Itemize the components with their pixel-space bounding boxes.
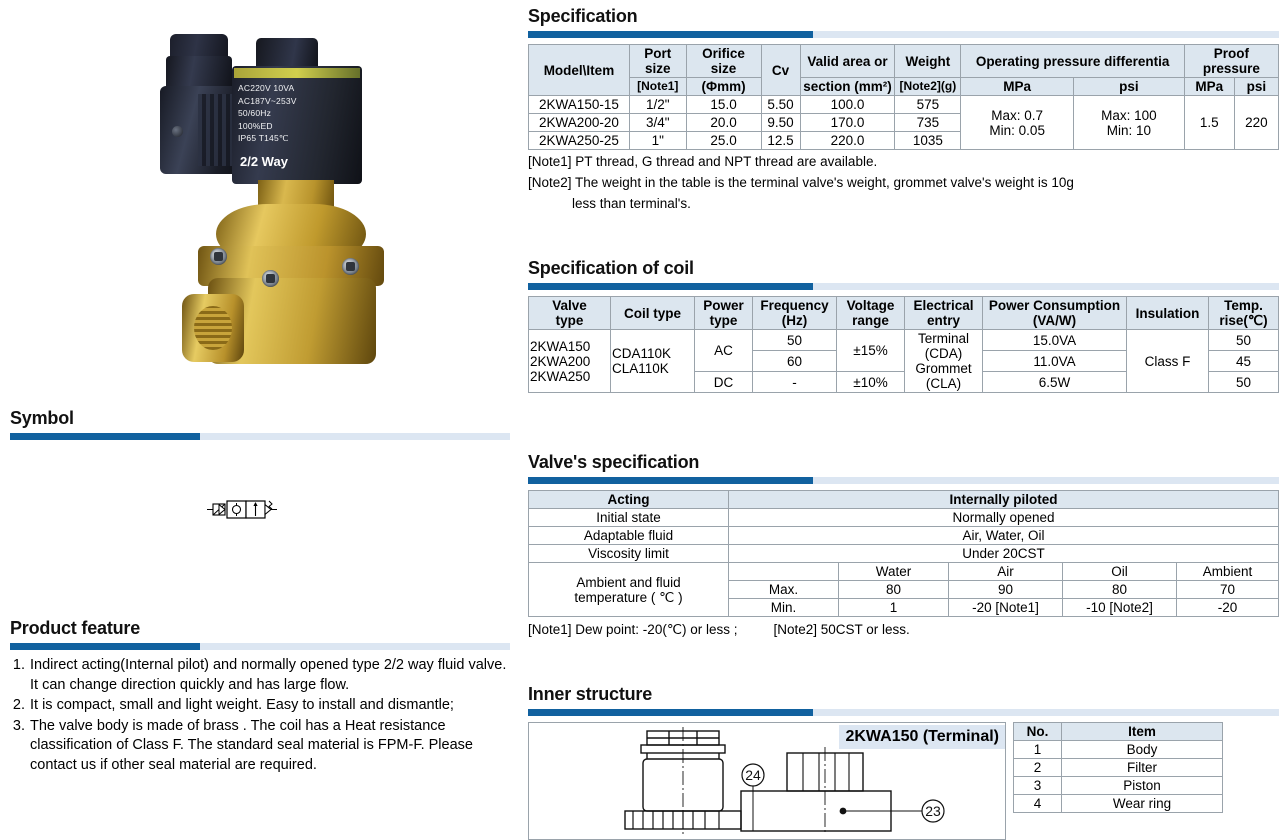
cell-temp-max-oil: 80 bbox=[1063, 581, 1177, 599]
coil-way-text: 2/2 Way bbox=[240, 154, 288, 169]
coil-label-line-3: 50/60Hz bbox=[238, 107, 362, 120]
bolt-center bbox=[262, 270, 279, 287]
coil-label-text: AC220V 10VA AC187V~253V 50/60Hz 100%ED I… bbox=[238, 82, 362, 145]
table-row: Viscosity limit Under 20CST bbox=[529, 545, 1279, 563]
cell-part-item: Filter bbox=[1062, 759, 1223, 777]
cell-consumption: 6.5W bbox=[983, 372, 1127, 393]
th-line-1: Valve bbox=[531, 298, 608, 313]
spec-note-2: [Note2] The weight in the table is the t… bbox=[528, 174, 1279, 192]
opd-psi-max: Max: 100 bbox=[1076, 108, 1182, 123]
table-subheader-row: [Note1] (Φmm) section (mm²) [Note2](g) M… bbox=[529, 78, 1279, 96]
table-row: 1 Body bbox=[1014, 741, 1223, 759]
cell-model: 2KWA150-15 bbox=[529, 96, 630, 114]
callout-24: 24 bbox=[745, 767, 761, 783]
cell-consumption: 15.0VA bbox=[983, 330, 1127, 351]
cell-proof-mpa: 1.5 bbox=[1184, 96, 1234, 150]
cell-model: 2KWA250-25 bbox=[529, 132, 630, 150]
valve-specification-heading: Valve's specification bbox=[528, 452, 1279, 472]
th-temp-rise: Temp. rise(℃) bbox=[1209, 297, 1279, 330]
cell-orifice: 15.0 bbox=[686, 96, 761, 114]
valve-specification-section: Valve's specification Acting Internally … bbox=[528, 452, 1279, 639]
cell-viscosity-value: Under 20CST bbox=[729, 545, 1279, 563]
table-header-row: No. Item bbox=[1014, 723, 1223, 741]
th-model: Model\Item bbox=[529, 45, 630, 96]
list-item: 3. The valve body is made of brass . The… bbox=[10, 717, 510, 776]
coil-accent-rule bbox=[528, 283, 1279, 290]
cell-power-type: DC bbox=[695, 372, 753, 393]
cell-temperature-label: Ambient and fluid temperature ( ℃ ) bbox=[529, 563, 729, 617]
cell-coil-types: CDA110K CLA110K bbox=[611, 330, 695, 393]
cell-part-no: 4 bbox=[1014, 795, 1062, 813]
valve-port bbox=[182, 294, 244, 362]
th-line-2: (VA/W) bbox=[985, 313, 1124, 328]
cell-part-item: Wear ring bbox=[1062, 795, 1223, 813]
feature-number: 1. bbox=[10, 656, 25, 695]
product-feature-list: 1. Indirect acting(Internal pilot) and n… bbox=[10, 656, 510, 775]
cell-port-size: 1" bbox=[629, 132, 686, 150]
cell-voltage: ±15% bbox=[837, 330, 905, 372]
entry-line-1: Terminal bbox=[907, 331, 980, 346]
drawing-model-tag: 2KWA150 (Terminal) bbox=[839, 725, 1005, 749]
cell-cv: 5.50 bbox=[761, 96, 800, 114]
cell-temp-rise: 50 bbox=[1209, 330, 1279, 351]
parts-list-table: No. Item 1 Body 2 Filter 3 Piston bbox=[1013, 722, 1223, 813]
cell-port-size: 3/4" bbox=[629, 114, 686, 132]
cell-weight: 735 bbox=[895, 114, 961, 132]
table-header-row: Valve type Coil type Power type Frequenc… bbox=[529, 297, 1279, 330]
opd-mpa-max: Max: 0.7 bbox=[963, 108, 1071, 123]
th-part-no: No. bbox=[1014, 723, 1062, 741]
cell-temp-rise: 45 bbox=[1209, 351, 1279, 372]
th-valid-area-unit: section (mm²) bbox=[800, 78, 895, 96]
right-column: Specification Model\Item Port size Orifi… bbox=[520, 0, 1287, 840]
valve-schematic-symbol bbox=[205, 497, 279, 523]
cell-initial-state-label: Initial state bbox=[529, 509, 729, 527]
inner-structure-drawing: 2KWA150 (Terminal) bbox=[528, 722, 1006, 840]
cell-acting-value: Internally piloted bbox=[729, 491, 1279, 509]
connector-nut bbox=[166, 56, 232, 90]
valve-type-1: 2KWA150 bbox=[530, 339, 608, 354]
table-row: 2KWA150 2KWA200 2KWA250 CDA110K CLA110K … bbox=[529, 330, 1279, 351]
th-proof-psi: psi bbox=[1234, 78, 1278, 96]
th-line-2: entry bbox=[907, 313, 980, 328]
th-orifice-unit: (Φmm) bbox=[686, 78, 761, 96]
th-opd-mpa: MPa bbox=[961, 78, 1074, 96]
coil-label-strip bbox=[234, 68, 360, 78]
inner-structure-accent-rule bbox=[528, 709, 1279, 716]
th-line-1: Power bbox=[697, 298, 750, 313]
cell-temp-min-air: -20 [Note1] bbox=[949, 599, 1063, 617]
callout-23: 23 bbox=[925, 803, 941, 819]
th-weight: Weight bbox=[895, 45, 961, 78]
connector-screw bbox=[172, 126, 183, 137]
symbol-heading: Symbol bbox=[10, 408, 510, 428]
cell-temp-max-ambient: 70 bbox=[1177, 581, 1279, 599]
cell-cv: 9.50 bbox=[761, 114, 800, 132]
product-photo: AC220V 10VA AC187V~253V 50/60Hz 100%ED I… bbox=[120, 8, 380, 378]
table-row: 2 Filter bbox=[1014, 759, 1223, 777]
cell-weight: 575 bbox=[895, 96, 961, 114]
cell-temp-header-oil: Oil bbox=[1063, 563, 1177, 581]
th-line-1: Temp. bbox=[1211, 298, 1276, 313]
cell-temp-blank bbox=[729, 563, 839, 581]
cell-proof-psi: 220 bbox=[1234, 96, 1278, 150]
th-power-type: Power type bbox=[695, 297, 753, 330]
cell-temp-min-label: Min. bbox=[729, 599, 839, 617]
feature-text: It is compact, small and light weight. E… bbox=[30, 696, 510, 716]
cell-voltage: ±10% bbox=[837, 372, 905, 393]
table-row: Acting Internally piloted bbox=[529, 491, 1279, 509]
coil-type-2: CLA110K bbox=[612, 361, 692, 376]
coil-label-line-2: AC187V~253V bbox=[238, 95, 362, 108]
cell-orifice: 25.0 bbox=[686, 132, 761, 150]
cell-consumption: 11.0VA bbox=[983, 351, 1127, 372]
th-valve-type: Valve type bbox=[529, 297, 611, 330]
valve-note-1: [Note1] Dew point: -20(℃) or less ; bbox=[528, 621, 738, 639]
table-row: Adaptable fluid Air, Water, Oil bbox=[529, 527, 1279, 545]
left-column: AC220V 10VA AC187V~253V 50/60Hz 100%ED I… bbox=[0, 0, 520, 840]
cell-temp-header-air: Air bbox=[949, 563, 1063, 581]
inner-structure-heading: Inner structure bbox=[528, 684, 1279, 704]
coil-label-line-1: AC220V 10VA bbox=[238, 82, 362, 95]
cell-frequency: - bbox=[753, 372, 837, 393]
cell-part-no: 2 bbox=[1014, 759, 1062, 777]
cell-adaptable-fluid-label: Adaptable fluid bbox=[529, 527, 729, 545]
opd-mpa-min: Min: 0.05 bbox=[963, 123, 1071, 138]
th-opd-psi: psi bbox=[1073, 78, 1184, 96]
cell-part-item: Piston bbox=[1062, 777, 1223, 795]
th-line-1: Voltage bbox=[839, 298, 902, 313]
cell-weight: 1035 bbox=[895, 132, 961, 150]
cell-part-no: 1 bbox=[1014, 741, 1062, 759]
cell-electrical-entry: Terminal (CDA) Grommet (CLA) bbox=[905, 330, 983, 393]
spec-note-2-cont: less than terminal's. bbox=[528, 195, 1279, 213]
product-feature-section: Product feature 1. Indirect acting(Inter… bbox=[10, 618, 510, 776]
cell-adaptable-fluid-value: Air, Water, Oil bbox=[729, 527, 1279, 545]
temp-label-line-2: temperature ( ℃ ) bbox=[531, 590, 726, 605]
table-row: Ambient and fluid temperature ( ℃ ) Wate… bbox=[529, 563, 1279, 581]
valve-accent-rule bbox=[528, 477, 1279, 484]
th-insulation: Insulation bbox=[1127, 297, 1209, 330]
coil-label-line-4: 100%ED bbox=[238, 120, 362, 133]
table-row: Initial state Normally opened bbox=[529, 509, 1279, 527]
th-valid-area: Valid area or bbox=[800, 45, 895, 78]
cell-cv: 12.5 bbox=[761, 132, 800, 150]
cell-temp-rise: 50 bbox=[1209, 372, 1279, 393]
coil-specification-heading: Specification of coil bbox=[528, 258, 1279, 278]
cell-frequency: 50 bbox=[753, 330, 837, 351]
entry-line-2: (CDA) bbox=[907, 346, 980, 361]
cell-valid-area: 100.0 bbox=[800, 96, 895, 114]
cell-viscosity-label: Viscosity limit bbox=[529, 545, 729, 563]
specification-table: Model\Item Port size Orifice size Cv Val… bbox=[528, 44, 1279, 150]
th-voltage-range: Voltage range bbox=[837, 297, 905, 330]
feature-text: Indirect acting(Internal pilot) and norm… bbox=[30, 656, 510, 695]
cell-temp-max-water: 80 bbox=[839, 581, 949, 599]
th-acting: Acting bbox=[529, 491, 729, 509]
cell-opd-psi: Max: 100 Min: 10 bbox=[1073, 96, 1184, 150]
symbol-section: Symbol bbox=[10, 408, 510, 440]
th-orifice-size: Orifice size bbox=[686, 45, 761, 78]
bolt-right bbox=[342, 258, 359, 275]
valve-specification-table: Acting Internally piloted Initial state … bbox=[528, 490, 1279, 617]
list-item: 2. It is compact, small and light weight… bbox=[10, 696, 510, 716]
th-proof-pressure: Proof pressure bbox=[1184, 45, 1278, 78]
cell-part-item: Body bbox=[1062, 741, 1223, 759]
coil-specification-table: Valve type Coil type Power type Frequenc… bbox=[528, 296, 1279, 393]
opd-psi-min: Min: 10 bbox=[1076, 123, 1182, 138]
cell-valid-area: 170.0 bbox=[800, 114, 895, 132]
feature-number: 3. bbox=[10, 717, 25, 776]
cell-temp-min-oil: -10 [Note2] bbox=[1063, 599, 1177, 617]
th-power-consumption: Power Consumption (VA/W) bbox=[983, 297, 1127, 330]
valve-notes: [Note1] Dew point: -20(℃) or less ; [Not… bbox=[528, 621, 1279, 639]
th-coil-type: Coil type bbox=[611, 297, 695, 330]
cell-valid-area: 220.0 bbox=[800, 132, 895, 150]
th-line-1: Power Consumption bbox=[985, 298, 1124, 313]
list-item: 1. Indirect acting(Internal pilot) and n… bbox=[10, 656, 510, 695]
spec-note-1: [Note1] PT thread, G thread and NPT thre… bbox=[528, 153, 1279, 171]
cell-model: 2KWA200-20 bbox=[529, 114, 630, 132]
inner-structure-content: 2KWA150 (Terminal) bbox=[528, 722, 1279, 840]
feature-text: The valve body is made of brass . The co… bbox=[30, 717, 510, 776]
th-line-1: Frequency bbox=[755, 298, 834, 313]
cell-temp-max-label: Max. bbox=[729, 581, 839, 599]
specification-heading: Specification bbox=[528, 6, 1279, 26]
th-cv: Cv bbox=[761, 45, 800, 96]
feature-number: 2. bbox=[10, 696, 25, 716]
th-electrical-entry: Electrical entry bbox=[905, 297, 983, 330]
cell-temp-header-water: Water bbox=[839, 563, 949, 581]
coil-type-1: CDA110K bbox=[612, 346, 692, 361]
cell-orifice: 20.0 bbox=[686, 114, 761, 132]
symbol-accent-rule bbox=[10, 433, 510, 440]
cell-temp-header-ambient: Ambient bbox=[1177, 563, 1279, 581]
table-row: 2KWA150-15 1/2" 15.0 5.50 100.0 575 Max:… bbox=[529, 96, 1279, 114]
th-line-1: Electrical bbox=[907, 298, 980, 313]
valve-note-2: [Note2] 50CST or less. bbox=[774, 621, 910, 639]
product-feature-accent-rule bbox=[10, 643, 510, 650]
th-line-2: type bbox=[697, 313, 750, 328]
product-feature-heading: Product feature bbox=[10, 618, 510, 638]
th-part-item: Item bbox=[1062, 723, 1223, 741]
cell-opd-mpa: Max: 0.7 Min: 0.05 bbox=[961, 96, 1074, 150]
th-frequency: Frequency (Hz) bbox=[753, 297, 837, 330]
temp-label-line-1: Ambient and fluid bbox=[531, 575, 726, 590]
cell-initial-state-value: Normally opened bbox=[729, 509, 1279, 527]
table-row: 4 Wear ring bbox=[1014, 795, 1223, 813]
th-proof-mpa: MPa bbox=[1184, 78, 1234, 96]
cell-temp-max-air: 90 bbox=[949, 581, 1063, 599]
th-line-2: range bbox=[839, 313, 902, 328]
entry-line-3: Grommet bbox=[907, 361, 980, 376]
specification-accent-rule bbox=[528, 31, 1279, 38]
th-line-2: rise(℃) bbox=[1211, 313, 1276, 328]
coil-specification-section: Specification of coil Valve type Coil ty… bbox=[528, 258, 1279, 393]
ce-mark-icon: CE bbox=[357, 46, 374, 63]
th-port-size: Port size bbox=[629, 45, 686, 78]
table-row: 3 Piston bbox=[1014, 777, 1223, 795]
cell-frequency: 60 bbox=[753, 351, 837, 372]
cell-power-type: AC bbox=[695, 330, 753, 372]
th-line-2: type bbox=[531, 313, 608, 328]
datasheet-page: AC220V 10VA AC187V~253V 50/60Hz 100%ED I… bbox=[0, 0, 1287, 840]
valve-type-2: 2KWA200 bbox=[530, 354, 608, 369]
specification-section: Specification Model\Item Port size Orifi… bbox=[528, 6, 1279, 213]
cell-temp-min-ambient: -20 bbox=[1177, 599, 1279, 617]
cell-part-no: 3 bbox=[1014, 777, 1062, 795]
th-weight-note: [Note2](g) bbox=[895, 78, 961, 96]
cell-port-size: 1/2" bbox=[629, 96, 686, 114]
entry-line-4: (CLA) bbox=[907, 376, 980, 391]
coil-label-line-5: IP65 T145℃ bbox=[238, 132, 362, 145]
bolt-left bbox=[210, 248, 227, 265]
cell-temp-min-water: 1 bbox=[839, 599, 949, 617]
inner-structure-section: Inner structure 2KWA150 (Terminal) bbox=[528, 684, 1279, 840]
valve-type-3: 2KWA250 bbox=[530, 369, 608, 384]
cell-insulation: Class F bbox=[1127, 330, 1209, 393]
th-line-2: (Hz) bbox=[755, 313, 834, 328]
th-operating-pressure: Operating pressure differentia bbox=[961, 45, 1184, 78]
table-header-row: Model\Item Port size Orifice size Cv Val… bbox=[529, 45, 1279, 78]
th-port-size-note: [Note1] bbox=[629, 78, 686, 96]
cell-valve-types: 2KWA150 2KWA200 2KWA250 bbox=[529, 330, 611, 393]
